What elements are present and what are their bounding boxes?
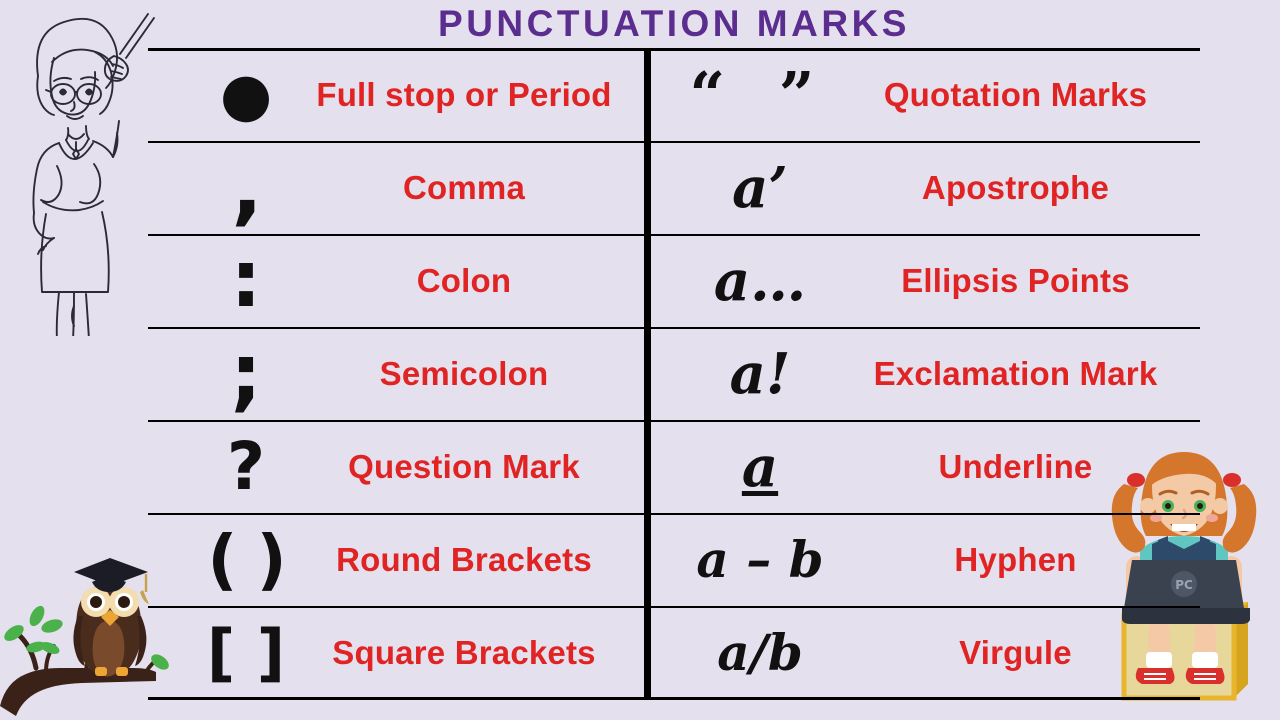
punctuation-label: Apostrophe [855,169,1200,207]
punctuation-label: Hyphen [855,541,1200,579]
punctuation-symbol: a… [665,253,855,309]
punctuation-symbol: a/b [665,628,855,678]
punctuation-label: Exclamation Mark [855,355,1200,393]
punctuation-symbol: a – b [665,535,855,585]
table-row: ? Question Mark [148,420,644,513]
punctuation-symbol: ( ) [190,527,302,593]
punctuation-marks-poster: PUNCTUATION MARKS [0,0,1280,720]
punctuation-label: Quotation Marks [855,76,1200,114]
punctuation-symbol: [ ] [190,622,302,684]
table-row: “ ” Quotation Marks [651,48,1200,141]
table-row: ; Semicolon [148,327,644,420]
punctuation-label: Virgule [855,634,1200,672]
table-row: ● Full stop or Period [148,48,644,141]
punctuation-symbol: a [665,439,855,495]
table-row: [ ] Square Brackets [148,606,644,699]
table-row: a! Exclamation Mark [651,327,1200,420]
punctuation-label: Underline [855,448,1200,486]
column-divider [644,48,651,700]
graduate-owl-on-branch-illustration [0,520,170,720]
table-row: ( ) Round Brackets [148,513,644,606]
punctuation-symbol: “ ” [665,64,855,126]
punctuation-symbol: : [190,251,302,310]
punctuation-symbol: ; [190,345,302,403]
punctuation-symbol: ● [190,77,302,113]
table-row: a’ Apostrophe [651,141,1200,234]
table-row: a – b Hyphen [651,513,1200,606]
punctuation-label: Comma [302,169,644,207]
table-row: a Underline [651,420,1200,513]
page-title: PUNCTUATION MARKS [148,2,1200,48]
punctuation-label: Ellipsis Points [855,262,1200,300]
punctuation-symbol: a! [665,346,855,402]
punctuation-label: Colon [302,262,644,300]
punctuation-label: Semicolon [302,355,644,393]
teacher-with-pointer-illustration [2,6,162,336]
punctuation-label: Question Mark [302,448,644,486]
punctuation-label: Round Brackets [302,541,644,579]
table-row: a/b Virgule [651,606,1200,699]
punctuation-symbol: ‚ [190,164,302,211]
punctuation-table: ● Full stop or Period ‚ Comma : Colon ; … [148,48,1200,700]
table-row: : Colon [148,234,644,327]
table-row: ‚ Comma [148,141,644,234]
punctuation-symbol: ? [190,434,302,500]
punctuation-symbol: a’ [665,160,855,216]
punctuation-label: Full stop or Period [302,76,644,114]
table-row: a… Ellipsis Points [651,234,1200,327]
punctuation-label: Square Brackets [302,634,644,672]
